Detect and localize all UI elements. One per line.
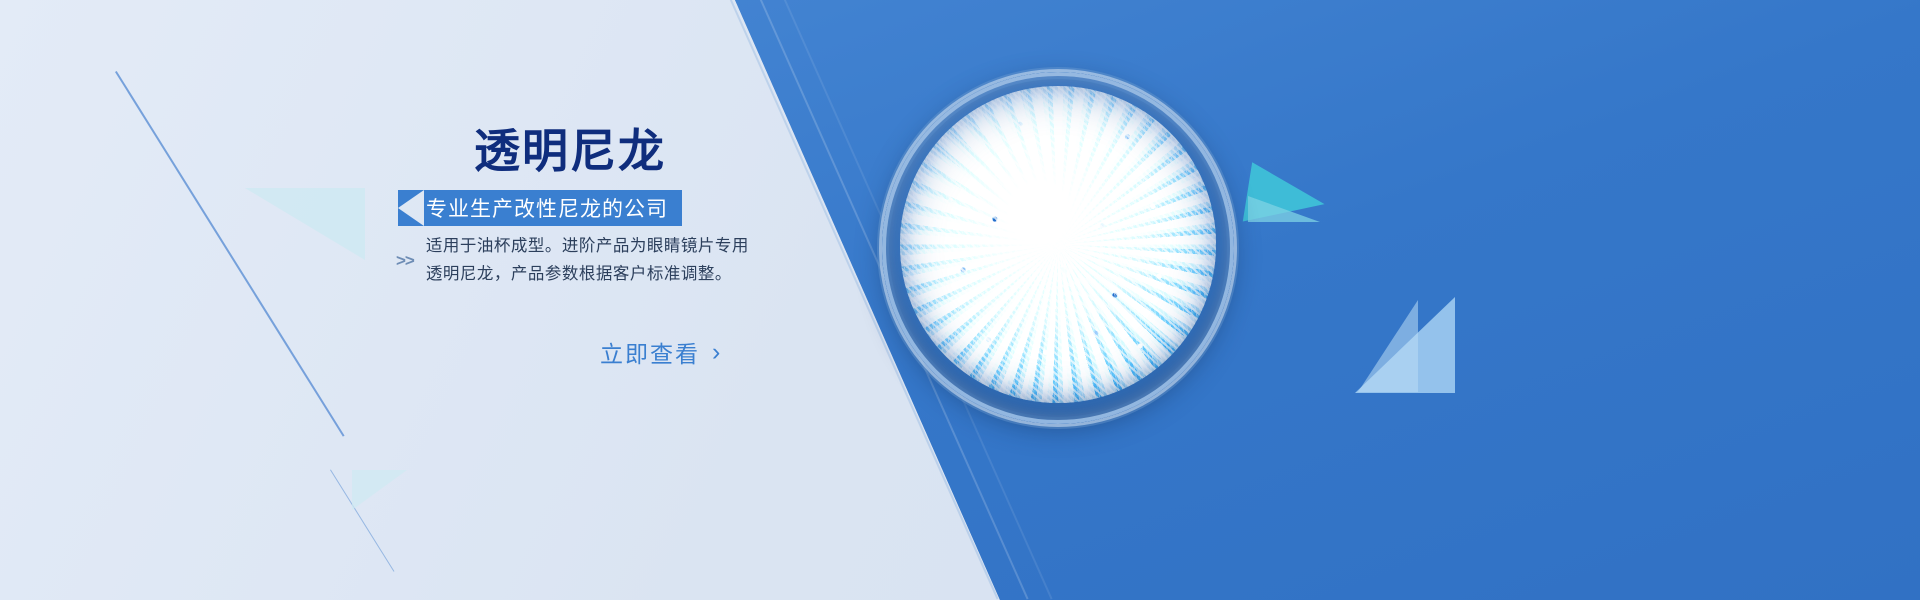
promo-banner: 透明尼龙 专业生产改性尼龙的公司 >> 适用于油杯成型。进阶产品为眼睛镜片专用 … [0, 0, 1920, 600]
tagline-text: 专业生产改性尼龙的公司 [424, 190, 682, 226]
tagline-ribbon: 专业生产改性尼龙的公司 [398, 190, 682, 226]
description-line-2: 透明尼龙，产品参数根据客户标准调整。 [426, 260, 749, 288]
double-chevron-icon: >> [396, 252, 414, 269]
banner-title: 透明尼龙 [474, 128, 666, 174]
petri-dish [882, 72, 1234, 424]
banner-content: 透明尼龙 专业生产改性尼龙的公司 >> 适用于油杯成型。进阶产品为眼睛镜片专用 … [0, 0, 760, 600]
description-line-1: 适用于油杯成型。进阶产品为眼睛镜片专用 [426, 232, 749, 260]
description-text: 适用于油杯成型。进阶产品为眼睛镜片专用 透明尼龙，产品参数根据客户标准调整。 [426, 232, 749, 288]
chevron-right-icon: › [712, 340, 722, 365]
product-image-nylon-pellets [882, 72, 1234, 424]
ribbon-arrow-icon [398, 190, 424, 226]
view-now-label: 立即查看 [600, 335, 700, 369]
view-now-button[interactable]: 立即查看 › [600, 335, 722, 369]
nylon-pellets-sparkle [900, 86, 1217, 403]
decorative-lightblue-triangle-large-overlay [1358, 300, 1418, 392]
decorative-lightblue-triangle-small [1248, 196, 1320, 222]
description-block: >> 适用于油杯成型。进阶产品为眼睛镜片专用 透明尼龙，产品参数根据客户标准调整… [396, 232, 749, 288]
